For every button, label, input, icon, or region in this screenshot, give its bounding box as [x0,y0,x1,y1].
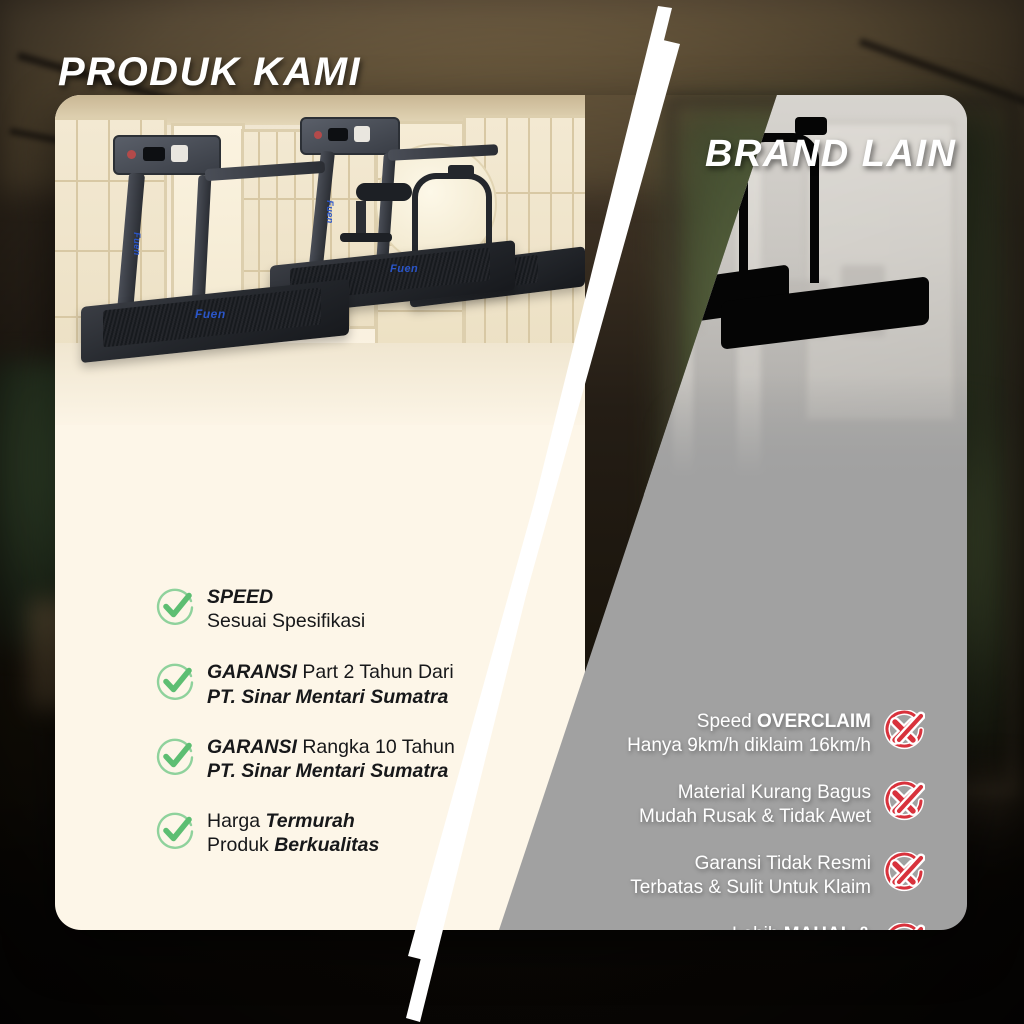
cons-line1-bold: OVERCLAIM [757,711,871,732]
cons-line1-normal: Material Kurang Bagus [678,782,871,803]
pros-line1-rest: Part 2 Tahun Dari [297,661,454,683]
arm-rail-front [205,161,326,181]
pros-line1-rest: Harga [207,810,266,832]
cons-line2-normal: Mudah Rusak & Tidak Awet [639,806,871,827]
pros-line2-strong: PT. Sinar Mentari Sumatra [207,686,448,708]
left-panel-produk-kami: Fuen Fuen Fuen [55,95,585,930]
pros-line1-strong: SPEED [207,586,273,608]
cross-circle-icon [883,781,929,828]
pros-line2-strong: PT. Sinar Mentari Sumatra [207,760,448,782]
cons-line2-normal: Terbatas & Sulit Untuk Klaim [630,877,871,898]
page-title-left: PRODUK KAMI [58,50,361,95]
pros-line2-normal: Sesuai Spesifikasi [207,610,365,632]
cons-item-text: Garansi Tidak Resmi Terbatas & Sulit Unt… [630,852,883,900]
pros-item-text: SPEED Sesuai Spesifikasi [199,585,365,633]
pros-item-text: GARANSI Rangka 10 Tahun PT. Sinar Mentar… [199,735,455,783]
pros-line2-strong: Berkualitas [274,834,379,856]
check-circle-icon [155,736,199,781]
cons-item-text: Speed OVERCLAIM Hanya 9km/h diklaim 16km… [627,710,883,758]
pros-list-item: Harga Termurah Produk Berkualitas [155,809,555,857]
treadmill-front: Fuen Fuen [75,135,365,385]
cross-circle-icon [883,923,929,930]
comparison-card: Fuen Fuen Fuen [55,95,967,930]
check-circle-icon [155,810,199,855]
pros-list-item: GARANSI Part 2 Tahun Dari PT. Sinar Ment… [155,660,555,708]
cons-list: Speed OVERCLAIM Hanya 9km/h diklaim 16km… [499,710,929,930]
pros-item-text: GARANSI Part 2 Tahun Dari PT. Sinar Ment… [199,660,454,708]
pros-line2-normal: Produk [207,834,274,856]
cons-line1-bold: MAHAL & [784,924,871,930]
cons-line1-normal: Speed [697,711,757,732]
pros-line1-rest: Rangka 10 Tahun [297,736,455,758]
pros-line1-strong: GARANSI [207,736,297,758]
pros-line1-strong: GARANSI [207,661,297,683]
pros-list-item: SPEED Sesuai Spesifikasi [155,585,555,633]
pros-list: SPEED Sesuai Spesifikasi GARANSI Part 2 … [155,585,555,857]
page-title-right: BRAND LAIN [705,133,956,176]
cons-item-text: Lebih MAHAL & Kurang BERKUALITAS [670,923,883,930]
cross-circle-icon [883,852,929,899]
check-circle-icon [155,661,199,706]
left-product-photo: Fuen Fuen Fuen [55,95,585,425]
pros-line1-emph: Termurah [266,810,355,832]
cons-list-item: Garansi Tidak Resmi Terbatas & Sulit Unt… [499,852,929,900]
cons-list-item: Material Kurang Bagus Mudah Rusak & Tida… [499,781,929,829]
cons-line2-normal: Hanya 9km/h diklaim 16km/h [627,735,871,756]
cross-circle-icon [883,710,929,757]
check-circle-icon [155,586,199,631]
cons-item-text: Material Kurang Bagus Mudah Rusak & Tida… [639,781,883,829]
cons-line1-normal: Lebih [732,924,784,930]
arm-rail [388,144,498,161]
pros-item-text: Harga Termurah Produk Berkualitas [199,809,379,857]
cons-line1-normal: Garansi Tidak Resmi [695,853,871,874]
pros-list-item: GARANSI Rangka 10 Tahun PT. Sinar Mentar… [155,735,555,783]
cons-list-item: Lebih MAHAL & Kurang BERKUALITAS [499,923,929,930]
